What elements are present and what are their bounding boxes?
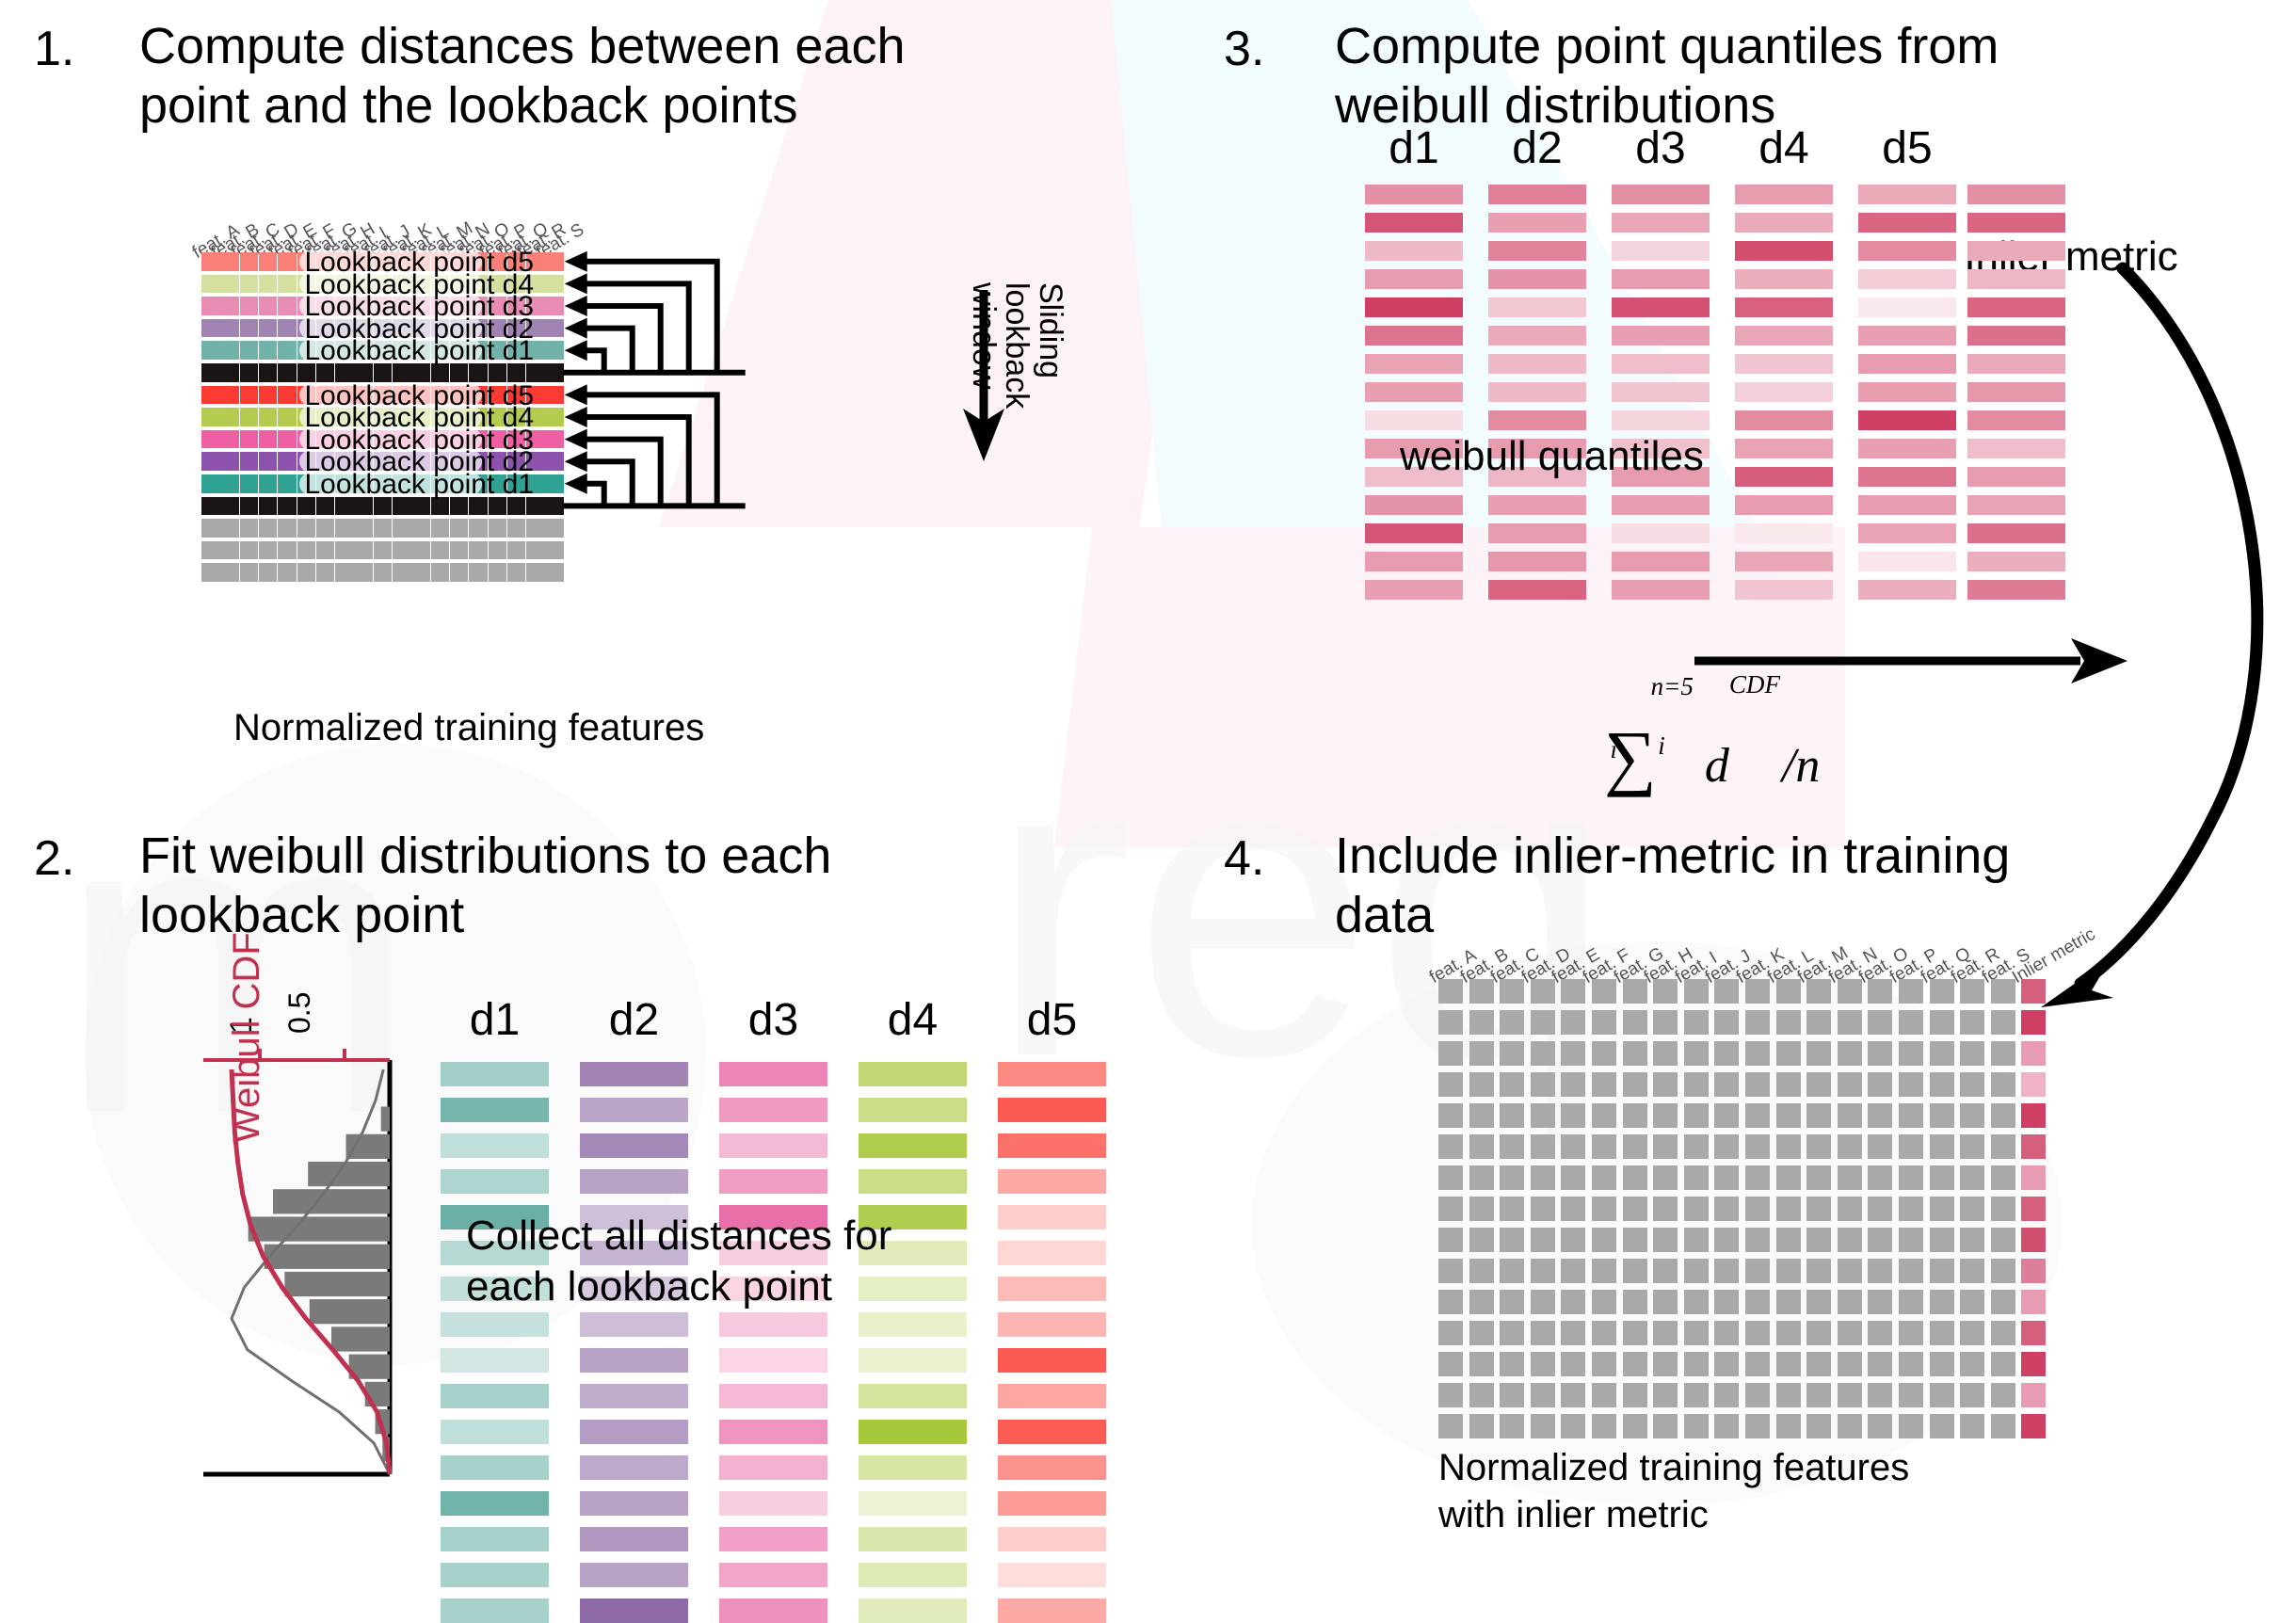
inlier-metric-cell [2021, 1197, 2046, 1221]
grid-cell [1500, 1103, 1524, 1128]
grid-cell [1868, 1228, 1892, 1252]
inlier-metric-cell [2021, 1165, 2046, 1190]
quantile-cell [1858, 523, 1956, 543]
grid-cell [1776, 1103, 1801, 1128]
grid-cell [1684, 1072, 1709, 1097]
grid-cell [1623, 1041, 1647, 1066]
quantile-cell [1858, 495, 1956, 515]
quantile-cell [1488, 213, 1586, 233]
distance-cell [580, 1348, 688, 1373]
grid-cell [1684, 1197, 1709, 1221]
grid-cell [1714, 1383, 1739, 1407]
grid-cell [1899, 1228, 1923, 1252]
inlier-metric-cell [2021, 1041, 2046, 1066]
grid-cell [1745, 1103, 1770, 1128]
distance-cell [580, 1169, 688, 1194]
grid-cell [1838, 1134, 1862, 1159]
grid-cell [1684, 1352, 1709, 1376]
quantile-cell [1488, 552, 1586, 571]
grid-cell [1868, 1414, 1892, 1438]
grid-cell [1930, 1010, 1954, 1035]
grid-cell [1776, 1197, 1801, 1221]
grid-cell [1469, 1197, 1494, 1221]
quantile-cell [1858, 354, 1956, 374]
grid-cell [1684, 979, 1709, 1004]
grid-cell [1653, 1259, 1678, 1283]
grid-cell [1469, 1134, 1494, 1159]
grid-cell [1776, 1041, 1801, 1066]
grid-cell [1684, 1134, 1709, 1159]
distance-cell [441, 1527, 549, 1551]
grid-cell [1868, 1103, 1892, 1128]
step-4-number: 4. [1224, 830, 1264, 887]
quantile-cell [1612, 241, 1710, 261]
grid-cell [1868, 1383, 1892, 1407]
grid-cell [1960, 1197, 1984, 1221]
grid-cell [1684, 1321, 1709, 1345]
grid-cell [1838, 1259, 1862, 1283]
grid-cell [1899, 1010, 1923, 1035]
distance-cell [998, 1491, 1106, 1516]
grid-cell [1838, 1321, 1862, 1345]
distance-cell [580, 1098, 688, 1122]
quantile-cell [1365, 495, 1463, 515]
inlier-metric-cell [2021, 1010, 2046, 1035]
grid-cell [1623, 1414, 1647, 1438]
grid-cell [1469, 1041, 1494, 1066]
grid-cell [1684, 1010, 1709, 1035]
quantile-cell [1858, 552, 1956, 571]
distance-cell [859, 1527, 967, 1551]
distance-cell [719, 1455, 827, 1480]
grid-cell [1714, 1010, 1739, 1035]
grid-cell [1469, 1228, 1494, 1252]
grid-cell [1960, 1041, 1984, 1066]
quantile-cell [1735, 354, 1833, 374]
grid-cell [1469, 1352, 1494, 1376]
grid-cell [1438, 1228, 1463, 1252]
weibull-axis-tick-05: 0.5 [282, 992, 317, 1034]
quantile-cell [1612, 354, 1710, 374]
grid-cell [1806, 1072, 1831, 1097]
grid-cell [1930, 1321, 1954, 1345]
grid-cell [1531, 1259, 1555, 1283]
grid-cell [1868, 1134, 1892, 1159]
distance-cell [859, 1420, 967, 1444]
grid-cell [1991, 979, 2015, 1004]
distance-cell [719, 1169, 827, 1194]
panel-3-column-label: d4 [1735, 122, 1833, 174]
grid-cell [1592, 1321, 1616, 1345]
grid-cell [1438, 1414, 1463, 1438]
quantile-cell [1612, 382, 1710, 402]
grid-cell [1991, 1228, 2015, 1252]
panel-4-caption: Normalized training features with inlier… [1438, 1444, 1909, 1538]
distance-cell [580, 1527, 688, 1551]
quantile-cell [1858, 213, 1956, 233]
distance-cell [580, 1420, 688, 1444]
quantile-cell [1858, 410, 1956, 430]
grid-cell [1653, 1321, 1678, 1345]
grid-cell [1776, 1414, 1801, 1438]
quantile-cell [1365, 213, 1463, 233]
grid-cell [1960, 1352, 1984, 1376]
distance-cell [998, 1133, 1106, 1158]
inlier-metric-cell [2021, 1103, 2046, 1128]
quantile-cell [1735, 382, 1833, 402]
grid-cell [1806, 1321, 1831, 1345]
distance-cell [580, 1563, 688, 1587]
grid-cell [1714, 1197, 1739, 1221]
grid-cell [1438, 1259, 1463, 1283]
grid-cell [1868, 1072, 1892, 1097]
grid-cell [1438, 1134, 1463, 1159]
quantile-cell [1612, 495, 1710, 515]
grid-cell [1930, 1259, 1954, 1283]
quantile-cell [1488, 354, 1586, 374]
grid-cell [1899, 1197, 1923, 1221]
grid-cell [1438, 1197, 1463, 1221]
grid-cell [1838, 1414, 1862, 1438]
grid-cell [1991, 1352, 2015, 1376]
grid-cell [1960, 1321, 1984, 1345]
grid-cell [1838, 1010, 1862, 1035]
grid-cell [1960, 1103, 1984, 1128]
grid-cell [1500, 1197, 1524, 1221]
grid-cell [1776, 1072, 1801, 1097]
grid-cell [1561, 1041, 1585, 1066]
grid-cell [1868, 1165, 1892, 1190]
distance-cell [580, 1491, 688, 1516]
grid-cell [1623, 1383, 1647, 1407]
distance-cell [441, 1599, 549, 1623]
grid-cell [1960, 1072, 1984, 1097]
distance-cell [441, 1491, 549, 1516]
distance-cell [441, 1062, 549, 1086]
grid-cell [1806, 1383, 1831, 1407]
grid-cell [1806, 1228, 1831, 1252]
panel-3-formula: ∑n=5idCDFi/n [1604, 683, 1820, 804]
grid-cell [1592, 1041, 1616, 1066]
grid-cell [1592, 1165, 1616, 1190]
distance-cell [441, 1563, 549, 1587]
grid-cell [1776, 1259, 1801, 1283]
grid-cell [1561, 1290, 1585, 1314]
distance-cell [719, 1563, 827, 1587]
grid-cell [1469, 979, 1494, 1004]
quantile-cell [1488, 269, 1586, 289]
grid-cell [1991, 1134, 2015, 1159]
grid-cell [1868, 1290, 1892, 1314]
grid-cell [1438, 1290, 1463, 1314]
grid-cell [1806, 1352, 1831, 1376]
quantile-cell [1735, 580, 1833, 600]
grid-cell [1714, 1165, 1739, 1190]
quantile-cell [1735, 552, 1833, 571]
step-3-title: Compute point quantiles from weibull dis… [1335, 17, 2276, 135]
quantile-cell [1488, 580, 1586, 600]
grid-cell [1714, 1103, 1739, 1128]
grid-cell [1438, 979, 1463, 1004]
grid-cell [1745, 1134, 1770, 1159]
weibull-cdf-plot [185, 1032, 429, 1502]
grid-cell [1991, 1290, 2015, 1314]
distance-cell [719, 1491, 827, 1516]
grid-cell [1930, 1352, 1954, 1376]
grid-cell [1531, 1165, 1555, 1190]
grid-cell [1868, 1259, 1892, 1283]
grid-cell [1623, 1290, 1647, 1314]
quantile-cell [1858, 297, 1956, 317]
distance-cell [719, 1420, 827, 1444]
grid-cell [1930, 1228, 1954, 1252]
distance-cell [441, 1098, 549, 1122]
grid-cell [1653, 1352, 1678, 1376]
grid-cell [1868, 979, 1892, 1004]
grid-cell [1745, 1072, 1770, 1097]
grid-cell [1561, 1383, 1585, 1407]
grid-cell [1838, 1352, 1862, 1376]
grid-cell [1714, 1290, 1739, 1314]
panel-3-overlay-label: weibull quantiles [1400, 431, 1704, 482]
grid-cell [1592, 1228, 1616, 1252]
grid-cell [1469, 1321, 1494, 1345]
formula-sup: n=5 [1651, 672, 1694, 700]
grid-cell [1838, 1165, 1862, 1190]
distance-cell [859, 1169, 967, 1194]
grid-cell [1561, 1072, 1585, 1097]
grid-cell [1868, 1197, 1892, 1221]
grid-cell [1806, 1134, 1831, 1159]
quantile-cell [1365, 241, 1463, 261]
grid-cell [1745, 1383, 1770, 1407]
grid-cell [1684, 1041, 1709, 1066]
grid-cell [1561, 1103, 1585, 1128]
grid-cell [1684, 1228, 1709, 1252]
grid-cell [1469, 1072, 1494, 1097]
quantile-cell [1612, 297, 1710, 317]
formula-body-sub: i [1658, 731, 1665, 760]
panel-2-column-label: d2 [580, 994, 688, 1046]
grid-cell [1561, 979, 1585, 1004]
quantile-cell [1858, 382, 1956, 402]
grid-cell [1960, 1383, 1984, 1407]
grid-cell [1623, 1321, 1647, 1345]
grid-cell [1899, 1259, 1923, 1283]
grid-cell [1806, 1103, 1831, 1128]
grid-cell [1960, 1010, 1984, 1035]
grid-cell [1745, 979, 1770, 1004]
grid-cell [1960, 1259, 1984, 1283]
distance-cell [441, 1169, 549, 1194]
step-3-number: 3. [1224, 21, 1264, 77]
grid-cell [1991, 1103, 2015, 1128]
quantile-cell [1365, 580, 1463, 600]
grid-cell [1745, 1165, 1770, 1190]
grid-cell [1838, 1290, 1862, 1314]
grid-cell [1592, 1290, 1616, 1314]
quantile-cell [1488, 241, 1586, 261]
grid-cell [1868, 1352, 1892, 1376]
grid-cell [1531, 1103, 1555, 1128]
grid-cell [1991, 1010, 2015, 1035]
distance-cell [998, 1098, 1106, 1122]
grid-cell [1838, 979, 1862, 1004]
panel-3-column-label: d3 [1612, 122, 1710, 174]
distance-cell [998, 1312, 1106, 1337]
grid-cell [1531, 1134, 1555, 1159]
grid-cell [1899, 1134, 1923, 1159]
grid-cell [1469, 1165, 1494, 1190]
grid-cell [1469, 1103, 1494, 1128]
quantile-cell [1735, 269, 1833, 289]
distance-cell [859, 1312, 967, 1337]
grid-cell [1745, 1352, 1770, 1376]
distance-cell [859, 1455, 967, 1480]
panel-2-column-label: d1 [441, 994, 549, 1046]
grid-cell [1868, 1010, 1892, 1035]
quantile-cell [1735, 213, 1833, 233]
grid-cell [1500, 1134, 1524, 1159]
inlier-metric-cell [2021, 1414, 2046, 1438]
grid-cell [1714, 1259, 1739, 1283]
quantile-cell [1735, 410, 1833, 430]
inlier-metric-cell [1967, 185, 2065, 204]
distance-cell [441, 1348, 549, 1373]
grid-cell [1930, 1103, 1954, 1128]
grid-cell [1806, 1414, 1831, 1438]
grid-cell [1500, 1290, 1524, 1314]
grid-cell [1500, 1352, 1524, 1376]
grid-cell [1868, 1321, 1892, 1345]
distance-cell [859, 1098, 967, 1122]
quantile-cell [1488, 382, 1586, 402]
grid-cell [1592, 1259, 1616, 1283]
quantile-cell [1488, 185, 1586, 204]
formula-body-sup: CDF [1729, 670, 1780, 699]
grid-cell [1714, 1134, 1739, 1159]
grid-cell [1438, 1321, 1463, 1345]
grid-cell [1806, 1041, 1831, 1066]
grid-cell [1592, 1010, 1616, 1035]
grid-cell [1991, 1165, 2015, 1190]
grid-cell [1684, 1414, 1709, 1438]
grid-cell [1531, 1383, 1555, 1407]
grid-cell [1806, 1197, 1831, 1221]
grid-cell [1561, 1228, 1585, 1252]
grid-cell [1500, 1041, 1524, 1066]
grid-cell [1684, 1103, 1709, 1128]
grid-cell [1438, 1041, 1463, 1066]
grid-cell [1806, 1010, 1831, 1035]
grid-cell [1623, 1259, 1647, 1283]
grid-cell [1714, 1352, 1739, 1376]
inlier-metric-cell [2021, 1290, 2046, 1314]
grid-cell [1806, 1165, 1831, 1190]
quantile-cell [1365, 523, 1463, 543]
grid-cell [1899, 1165, 1923, 1190]
quantile-cell [1612, 552, 1710, 571]
grid-cell [1776, 1290, 1801, 1314]
quantile-cell [1735, 495, 1833, 515]
quantile-cell [1858, 439, 1956, 458]
grid-cell [1899, 1352, 1923, 1376]
grid-cell [1838, 1197, 1862, 1221]
distance-cell [859, 1563, 967, 1587]
grid-cell [1960, 979, 1984, 1004]
grid-cell [1806, 1290, 1831, 1314]
panel-2-column-label: d5 [998, 994, 1106, 1046]
quantile-cell [1735, 523, 1833, 543]
grid-cell [1653, 1414, 1678, 1438]
panel-2-overlay-label: Collect all distances for each lookback … [466, 1211, 891, 1311]
quantile-cell [1612, 523, 1710, 543]
grid-cell [1531, 979, 1555, 1004]
grid-cell [1714, 979, 1739, 1004]
grid-cell [1838, 1383, 1862, 1407]
distance-cell [859, 1599, 967, 1623]
grid-cell [1653, 1197, 1678, 1221]
inlier-metric-cell [2021, 1321, 2046, 1345]
grid-cell [1561, 1165, 1585, 1190]
grid-cell [1745, 1414, 1770, 1438]
grid-cell [1623, 1352, 1647, 1376]
distance-cell [441, 1455, 549, 1480]
grid-cell [1469, 1414, 1494, 1438]
grid-cell [1592, 1134, 1616, 1159]
grid-cell [1745, 1321, 1770, 1345]
distance-cell [580, 1312, 688, 1337]
inlier-metric-cell [2021, 1352, 2046, 1376]
quantile-cell [1488, 297, 1586, 317]
grid-cell [1653, 1290, 1678, 1314]
grid-cell [1960, 1134, 1984, 1159]
grid-cell [1776, 1165, 1801, 1190]
grid-cell [1806, 1259, 1831, 1283]
quantile-cell [1735, 185, 1833, 204]
grid-cell [1592, 1072, 1616, 1097]
distance-cell [441, 1312, 549, 1337]
grid-cell [1500, 979, 1524, 1004]
grid-cell [1684, 1259, 1709, 1283]
grid-cell [1438, 1383, 1463, 1407]
grid-cell [1623, 1165, 1647, 1190]
distance-cell [998, 1563, 1106, 1587]
distance-cell [998, 1277, 1106, 1301]
grid-cell [1531, 1290, 1555, 1314]
grid-cell [1745, 1197, 1770, 1221]
distance-cell [998, 1455, 1106, 1480]
grid-cell [1500, 1383, 1524, 1407]
distance-cell [998, 1205, 1106, 1229]
distance-cell [998, 1348, 1106, 1373]
grid-cell [1531, 1321, 1555, 1345]
quantile-cell [1488, 523, 1586, 543]
grid-cell [1592, 1103, 1616, 1128]
quantile-cell [1488, 326, 1586, 345]
step-4-title: Include inlier-metric in training data [1335, 827, 2296, 944]
grid-cell [1500, 1072, 1524, 1097]
grid-cell [1930, 1041, 1954, 1066]
grid-cell [1653, 1228, 1678, 1252]
grid-cell [1438, 1165, 1463, 1190]
distance-cell [719, 1527, 827, 1551]
grid-cell [1776, 1383, 1801, 1407]
grid-cell [1899, 1383, 1923, 1407]
distance-cell [719, 1062, 827, 1086]
quantile-cell [1735, 467, 1833, 487]
grid-cell [1838, 1228, 1862, 1252]
